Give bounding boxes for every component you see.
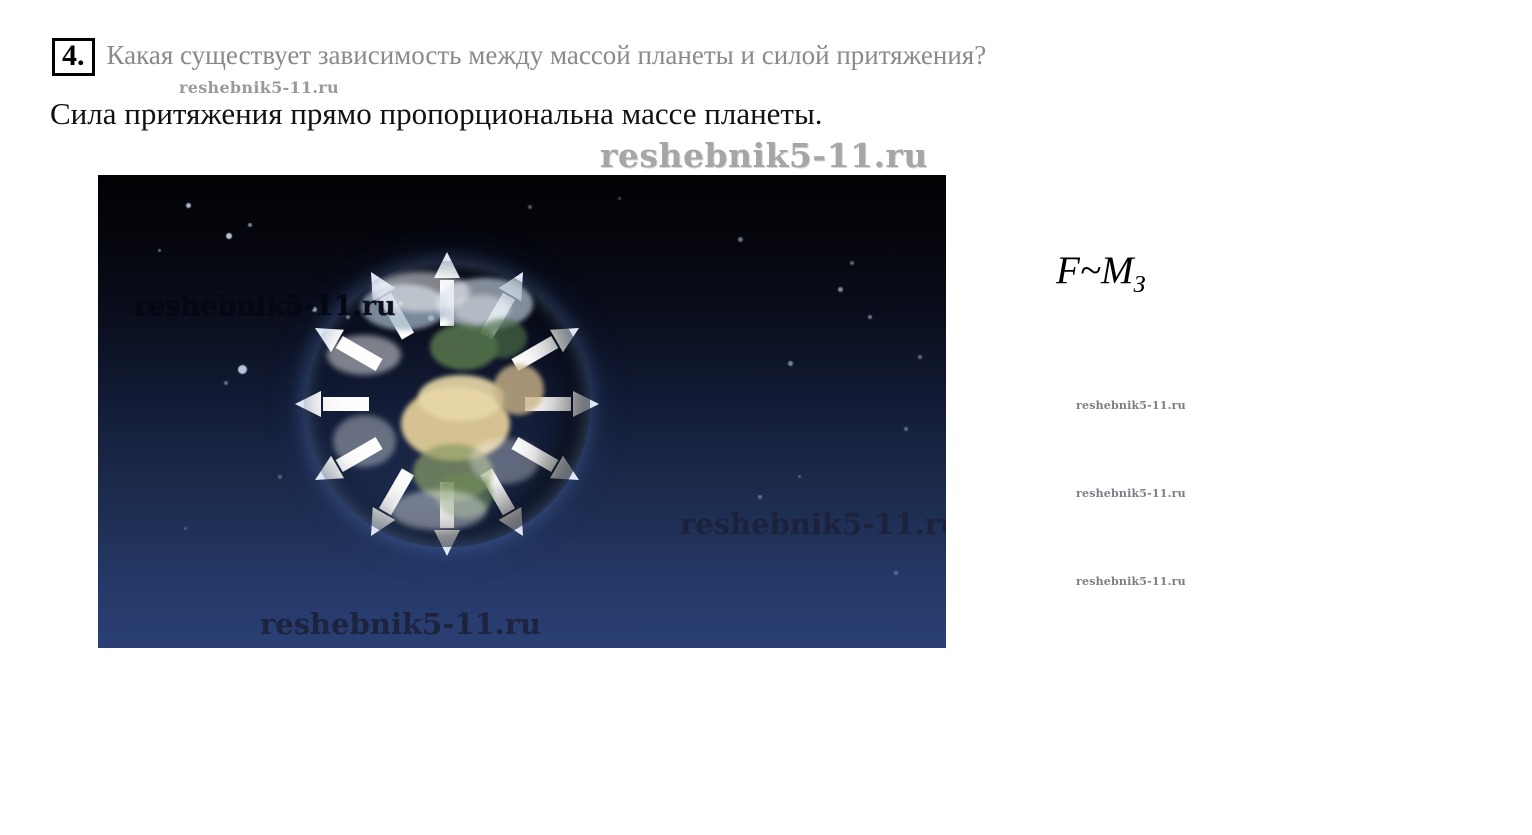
watermark-right-3: reshebnik5-11.ru	[1076, 575, 1186, 588]
star-icon	[528, 205, 532, 209]
star-icon	[618, 197, 621, 200]
star-icon	[226, 233, 232, 239]
star-icon	[838, 287, 843, 292]
star-icon	[758, 495, 762, 499]
formula-mass-symbol: M	[1101, 249, 1134, 292]
watermark-under-header: reshebnik5-11.ru	[179, 78, 339, 97]
answer-text: Сила притяжения прямо пропорциональна ма…	[50, 96, 823, 132]
star-icon	[798, 475, 801, 478]
star-icon	[158, 249, 161, 252]
watermark-large: reshebnik5-11.ru	[600, 136, 928, 175]
formula-force-proportional-to-mass: F~MЗ	[1056, 248, 1145, 299]
star-icon	[850, 261, 854, 265]
star-icon	[868, 315, 872, 319]
watermark-right-2: reshebnik5-11.ru	[1076, 487, 1186, 500]
star-icon	[904, 427, 908, 431]
formula-force-symbol: F	[1056, 249, 1080, 292]
star-icon	[238, 365, 247, 374]
watermark-right-1: reshebnik5-11.ru	[1076, 399, 1186, 412]
earth-gravity-illustration: reshebnik5-11.ru reshebnik5-11.ru resheb…	[98, 175, 946, 648]
star-icon	[224, 381, 228, 385]
question-number-box: 4.	[52, 38, 95, 76]
star-icon	[186, 203, 191, 208]
watermark-figure-right: reshebnik5-11.ru	[680, 507, 946, 541]
star-icon	[918, 355, 922, 359]
star-icon	[248, 223, 252, 227]
formula-mass-subscript: З	[1133, 271, 1145, 298]
star-icon	[278, 475, 282, 479]
watermark-figure-bottom: reshebnik5-11.ru	[260, 607, 541, 641]
star-icon	[788, 361, 793, 366]
star-icon	[738, 237, 743, 242]
star-icon	[894, 571, 898, 575]
page-title: Какая существует зависимость между массо…	[107, 38, 987, 69]
watermark-figure-left: reshebnik5-11.ru	[134, 291, 396, 322]
star-icon	[184, 527, 187, 530]
formula-relation-symbol: ~	[1080, 249, 1101, 292]
question-header: 4. Какая существует зависимость между ма…	[52, 38, 986, 76]
